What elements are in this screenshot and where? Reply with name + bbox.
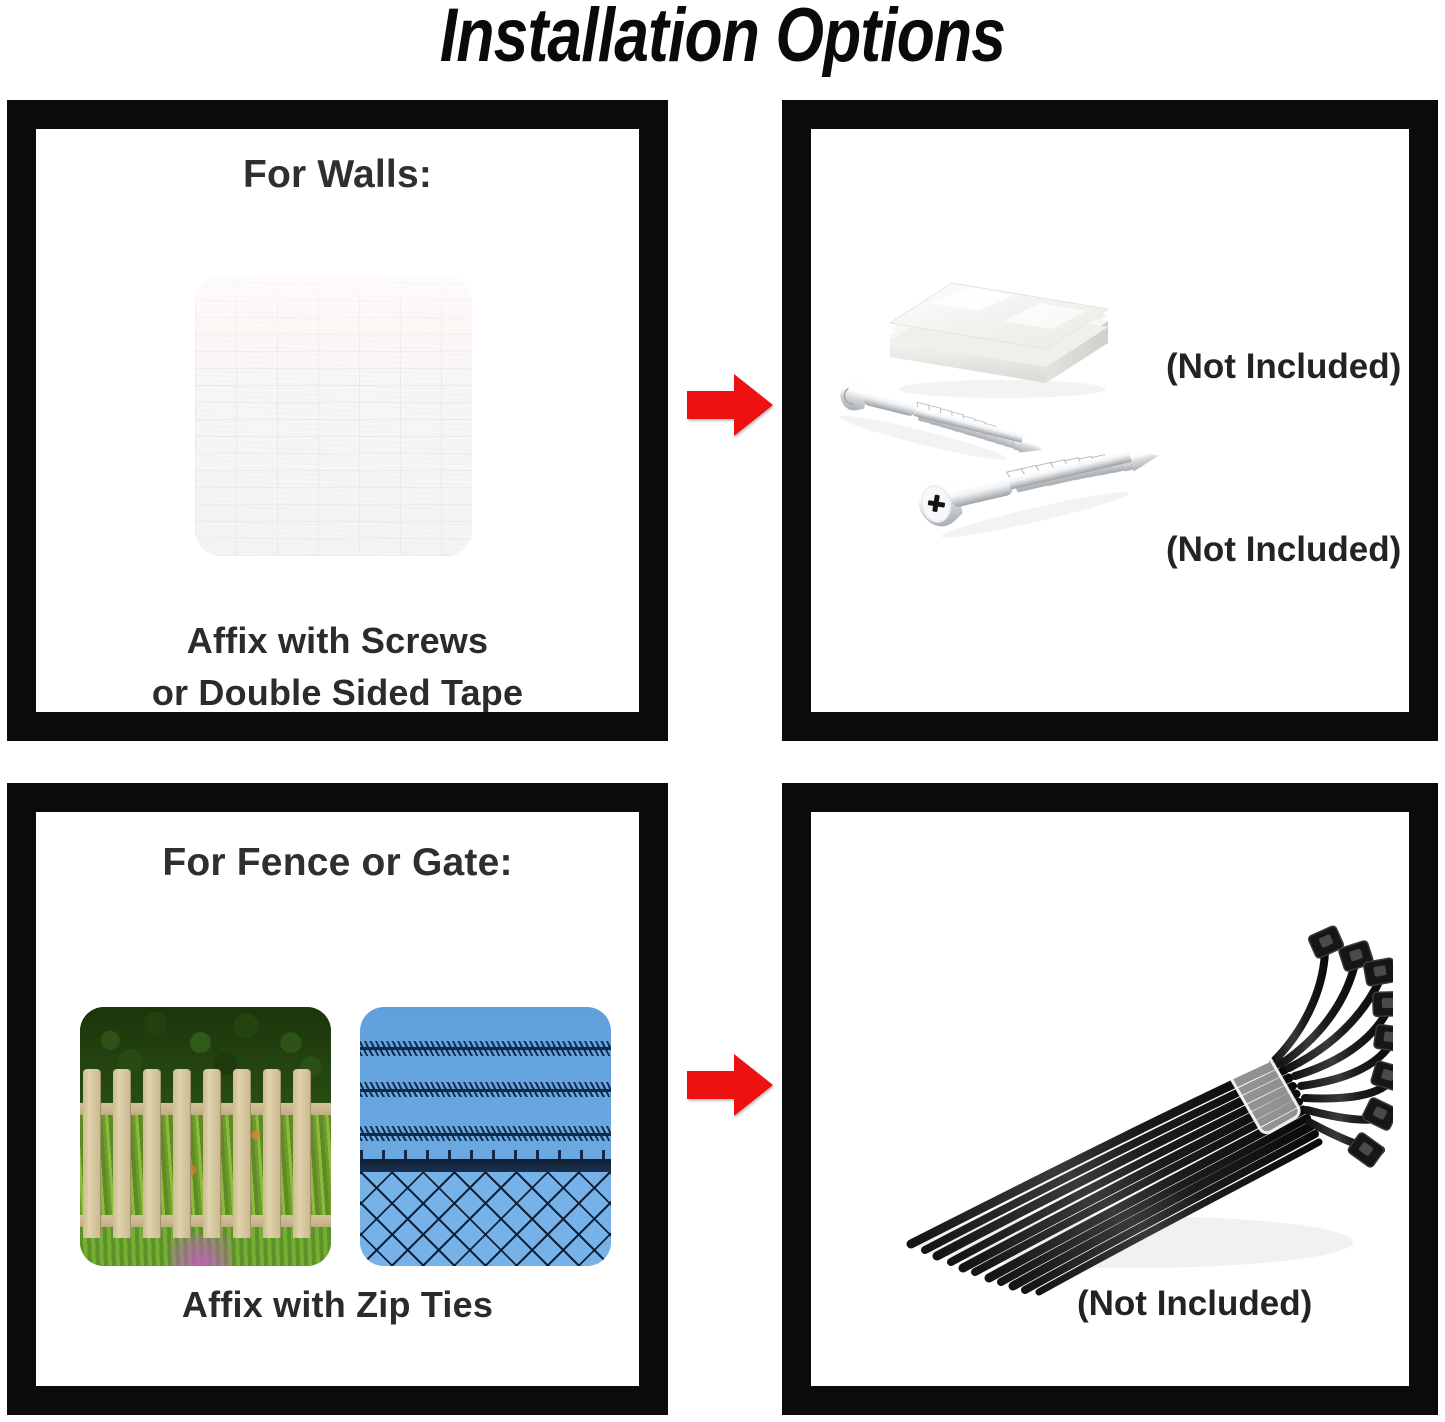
chain-link-mesh <box>360 1172 611 1266</box>
barbed-wire-strand <box>360 1089 611 1092</box>
fence-slat <box>233 1069 251 1237</box>
red-right-arrow-icon <box>687 1052 773 1118</box>
zip-ties-not-included-label: (Not Included) <box>1077 1284 1312 1324</box>
barbed-wire-strand <box>360 1133 611 1136</box>
walls-caption-line-2: or Double Sided Tape <box>36 672 639 712</box>
barbed-wire-strand <box>360 1047 611 1050</box>
fence-slat <box>263 1069 281 1237</box>
wood-screws-image <box>831 372 1191 562</box>
fence-caption: Affix with Zip Ties <box>36 1284 639 1326</box>
zip-tie-bundle-image <box>833 912 1393 1312</box>
picket-fence-scene <box>80 1007 331 1266</box>
for-fence-or-gate-heading: For Fence or Gate: <box>36 841 639 885</box>
fence-slat <box>83 1069 101 1237</box>
for-walls-heading: For Walls: <box>36 153 639 197</box>
screws-not-included-label: (Not Included) <box>1166 530 1401 570</box>
page-title: Installation Options <box>130 0 1315 78</box>
fence-top-rail <box>360 1159 611 1172</box>
fence-slats <box>80 1069 331 1237</box>
walls-caption-line-1: Affix with Screws <box>36 620 639 662</box>
picket-fence-image <box>80 1007 331 1266</box>
fence-slat <box>203 1069 221 1237</box>
whitewash-overlay <box>195 276 472 556</box>
panel-for-walls: For Walls: Affix with Screws or Double S… <box>7 100 668 741</box>
panel-zip-ties: (Not Included) <box>782 783 1438 1415</box>
panel-for-walls-content: For Walls: Affix with Screws or Double S… <box>36 129 639 712</box>
panel-for-fence-content: For Fence or Gate: <box>36 812 639 1386</box>
panel-wall-hardware: (Not Included) <box>782 100 1438 741</box>
fence-slat <box>173 1069 191 1237</box>
barbed-wire-fence-image <box>360 1007 611 1266</box>
tape-not-included-label: (Not Included) <box>1166 347 1401 387</box>
fence-slat <box>293 1069 311 1237</box>
panel-zip-ties-content: (Not Included) <box>811 812 1409 1386</box>
red-right-arrow-icon <box>687 372 773 438</box>
fence-slat <box>143 1069 161 1237</box>
panel-wall-hardware-content: (Not Included) <box>811 129 1409 712</box>
fence-slat <box>113 1069 131 1237</box>
barbed-wire-scene <box>360 1007 611 1266</box>
panel-for-fence-or-gate: For Fence or Gate: <box>7 783 668 1415</box>
brick-wall-image <box>195 276 472 556</box>
